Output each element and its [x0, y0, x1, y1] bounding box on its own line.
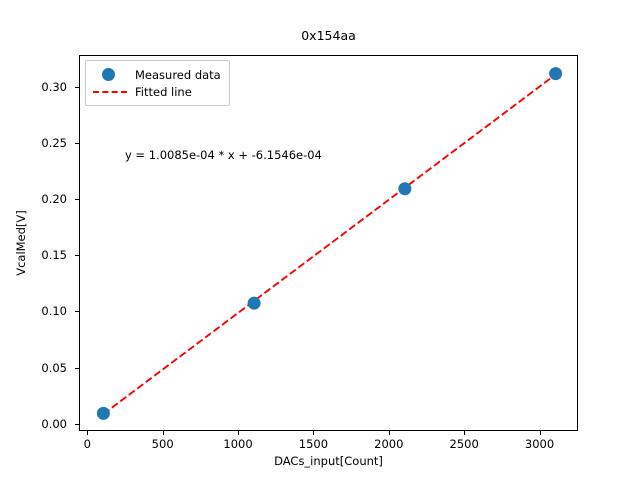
- x-tick-label: 1000: [223, 437, 252, 451]
- plot-graphics: [80, 56, 577, 430]
- x-tick-mark: [389, 431, 390, 435]
- x-tick-mark: [540, 431, 541, 435]
- plot-canvas: [80, 56, 577, 430]
- x-tick-mark: [238, 431, 239, 435]
- fit-equation-annotation: y = 1.0085e-04 * x + -6.1546e-04: [125, 148, 322, 162]
- data-point: [398, 182, 411, 195]
- y-tick-label: 0.05: [0, 361, 71, 375]
- data-point: [97, 407, 110, 420]
- y-tick-label: 0.25: [0, 136, 71, 150]
- x-tick-label: 0: [84, 437, 91, 451]
- circle-marker-icon: [92, 66, 128, 83]
- chart-legend: Measured data Fitted line: [85, 60, 230, 106]
- data-point: [549, 67, 562, 80]
- y-tick-label: 0.10: [0, 304, 71, 318]
- legend-label-measured-data: Measured data: [128, 68, 221, 82]
- y-tick-label: 0.30: [0, 80, 71, 94]
- x-axis-label: DACs_input[Count]: [79, 454, 578, 468]
- y-tick-label: 0.00: [0, 417, 71, 431]
- x-tick-mark: [163, 431, 164, 435]
- y-axis-label: VcalMed[V]: [12, 55, 30, 431]
- page-title: 0x154aa: [79, 28, 578, 44]
- legend-item-fitted-line: Fitted line: [92, 83, 221, 100]
- x-tick-label: 2000: [374, 437, 403, 451]
- x-tick-mark: [87, 431, 88, 435]
- data-point: [248, 297, 261, 310]
- matplotlib-figure: 0x154aa VcalMed[V] DACs_input[Count] 050…: [0, 0, 640, 480]
- x-tick-label: 1500: [299, 437, 328, 451]
- x-tick-mark: [313, 431, 314, 435]
- x-tick-label: 500: [152, 437, 174, 451]
- x-tick-label: 2500: [450, 437, 479, 451]
- legend-label-fitted-line: Fitted line: [128, 85, 192, 99]
- legend-item-measured-data: Measured data: [92, 66, 221, 83]
- plot-area: [79, 55, 578, 431]
- x-tick-mark: [464, 431, 465, 435]
- y-tick-label: 0.15: [0, 248, 71, 262]
- y-tick-label: 0.20: [0, 192, 71, 206]
- fitted-line: [103, 75, 555, 415]
- x-tick-label: 3000: [525, 437, 554, 451]
- dashed-line-icon: [92, 83, 128, 100]
